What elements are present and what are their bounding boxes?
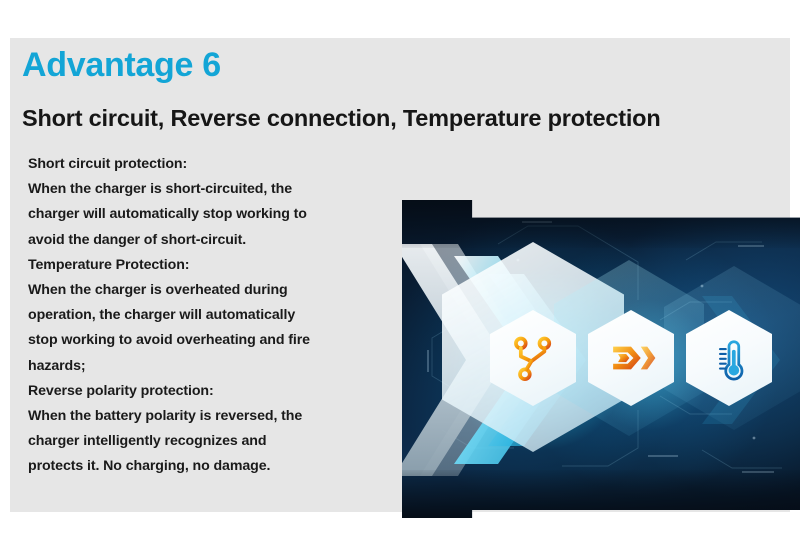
body-line: When the charger is short-circuited, the (28, 177, 388, 202)
body-line: Reverse polarity protection: (28, 379, 388, 404)
page-subtitle: Short circuit, Reverse connection, Tempe… (22, 105, 660, 132)
thermometer-icon (703, 332, 755, 384)
body-line: Temperature Protection: (28, 253, 388, 278)
body-line: charger will automatically stop working … (28, 202, 388, 227)
body-line: avoid the danger of short-circuit. (28, 228, 388, 253)
body-line: protects it. No charging, no damage. (28, 454, 388, 479)
body-copy: Short circuit protection: When the charg… (28, 152, 388, 480)
protection-illustration (402, 200, 800, 518)
body-line: When the battery polarity is reversed, t… (28, 404, 388, 429)
body-line: When the charger is overheated during (28, 278, 388, 303)
body-line: charger intelligently recognizes and (28, 429, 388, 454)
body-line: hazards; (28, 354, 388, 379)
body-line: operation, the charger will automaticall… (28, 303, 388, 328)
short-circuit-icon (507, 332, 559, 384)
body-line: Short circuit protection: (28, 152, 388, 177)
page-title: Advantage 6 (22, 48, 221, 84)
slide-canvas: Advantage 6 Short circuit, Reverse conne… (0, 0, 800, 560)
reverse-polarity-arrows-icon (605, 332, 657, 384)
body-line: stop working to avoid overheating and fi… (28, 328, 388, 353)
